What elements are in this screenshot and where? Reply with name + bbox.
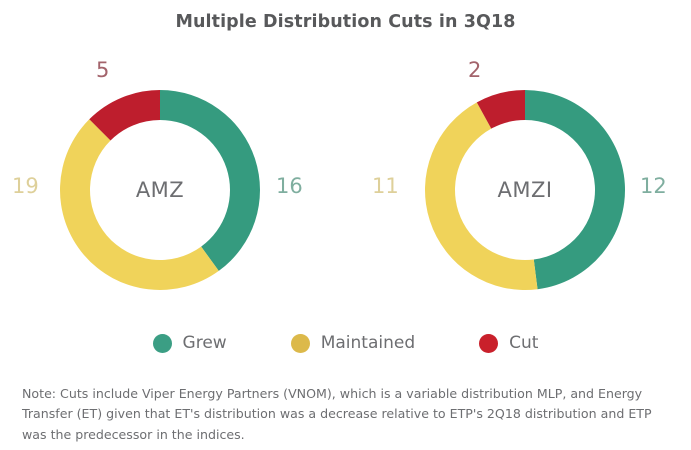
donut-slice-maintained[interactable]	[60, 119, 219, 290]
donut-amzi-svg	[425, 90, 625, 290]
chart-footnote: Note: Cuts include Viper Energy Partners…	[22, 384, 672, 445]
legend-label-cut: Cut	[509, 333, 538, 353]
legend-label-maintained: Maintained	[321, 333, 415, 353]
legend-item-maintained[interactable]: Maintained	[291, 333, 415, 353]
donut-chart-amz: AMZ	[60, 90, 260, 290]
legend-label-grew: Grew	[183, 333, 227, 353]
donut-amz-svg	[60, 90, 260, 290]
donut-amz-grew-value: 16	[276, 174, 303, 198]
donut-slice-grew[interactable]	[160, 90, 260, 271]
donut-amzi-grew-value: 12	[640, 174, 667, 198]
chart-legend: Grew Maintained Cut	[0, 333, 691, 353]
legend-swatch-cut-icon	[479, 334, 498, 353]
donut-slice-maintained[interactable]	[425, 102, 538, 290]
legend-swatch-grew-icon	[153, 334, 172, 353]
donut-chart-amzi: AMZI	[425, 90, 625, 290]
donut-amzi-cut-value: 2	[468, 58, 481, 82]
legend-item-grew[interactable]: Grew	[153, 333, 227, 353]
legend-swatch-maintained-icon	[291, 334, 310, 353]
donut-slice-grew[interactable]	[525, 90, 625, 289]
donut-amzi-maintained-value: 11	[372, 174, 399, 198]
donut-amz-cut-value: 5	[96, 58, 109, 82]
chart-figure: Multiple Distribution Cuts in 3Q18 AMZ 5…	[0, 0, 691, 450]
donut-amz-maintained-value: 19	[12, 174, 39, 198]
chart-title: Multiple Distribution Cuts in 3Q18	[0, 12, 691, 32]
legend-item-cut[interactable]: Cut	[479, 333, 538, 353]
